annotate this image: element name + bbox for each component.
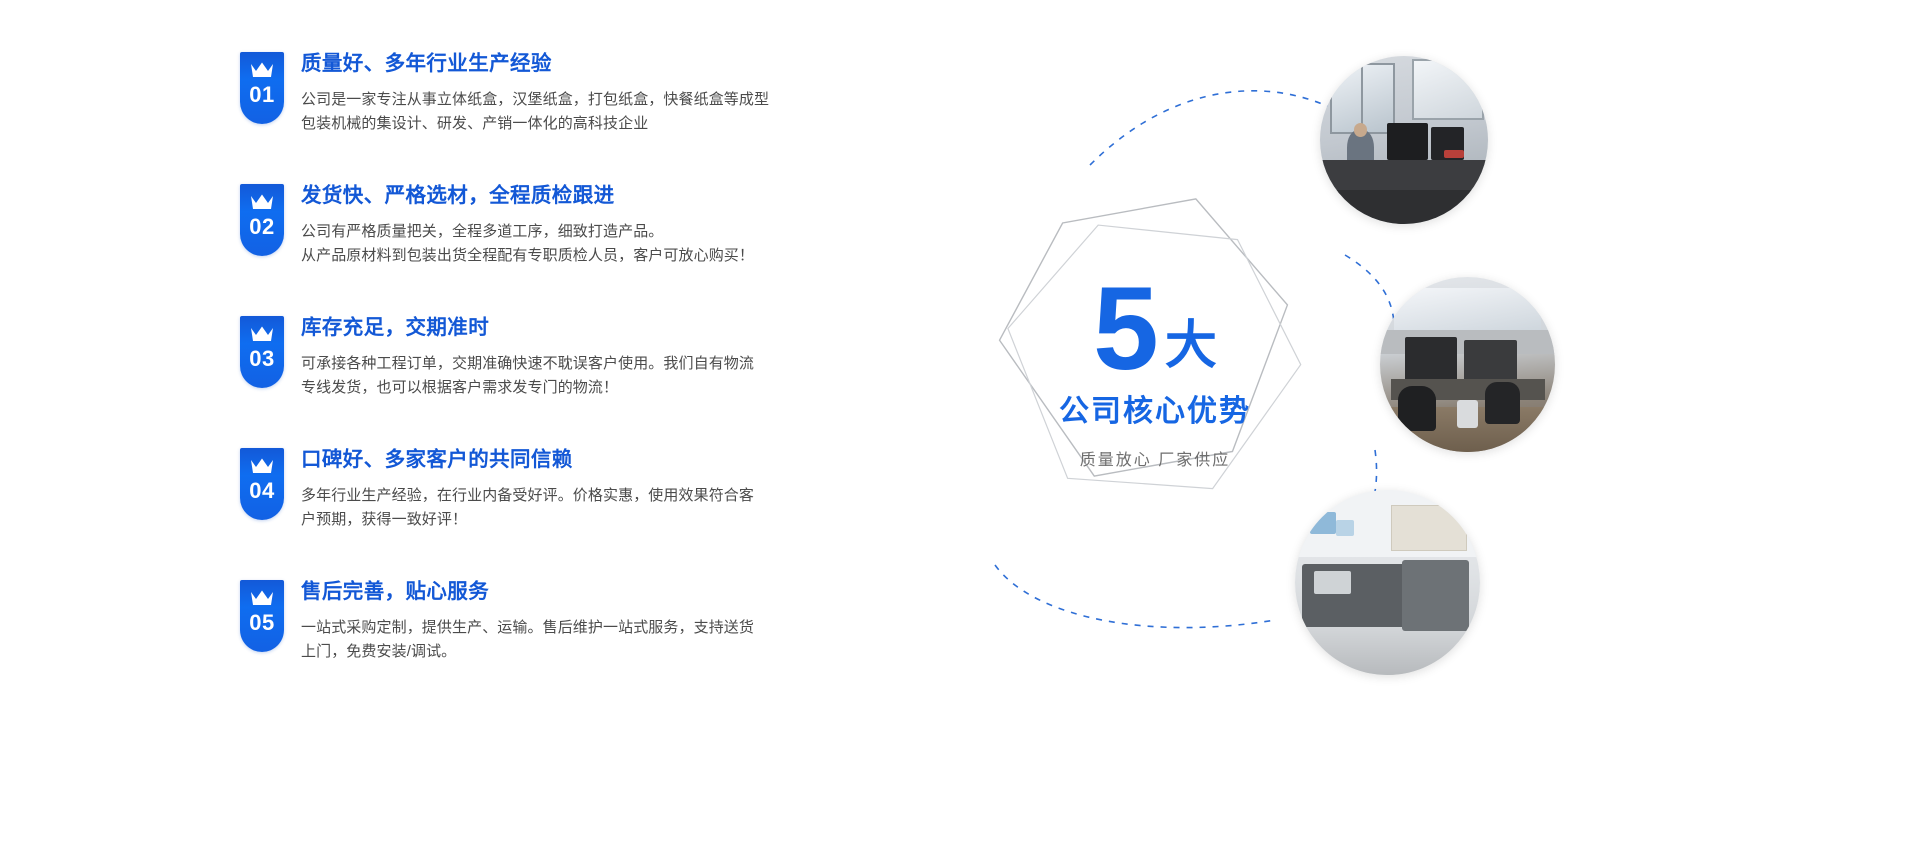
rank-badge-03: 03 [240, 316, 284, 388]
feature-description: 一站式采购定制，提供生产、运输。售后维护一站式服务，支持送货 上门，免费安装/调… [301, 616, 754, 666]
feature-text: 质量好、多年行业生产经验 公司是一家专注从事立体纸盒，汉堡纸盒，打包纸盒，快餐纸… [301, 52, 769, 137]
rank-badge-05: 05 [240, 580, 284, 652]
feature-title: 口碑好、多家客户的共同信赖 [301, 449, 754, 472]
photo-content [1295, 490, 1480, 675]
rank-number: 02 [240, 214, 284, 240]
feature-description-line: 一站式采购定制，提供生产、运输。售后维护一站式服务，支持送货 [301, 616, 754, 641]
feature-description-line: 从产品原材料到包装出货全程配有专职质检人员，客户可放心购买！ [301, 244, 754, 269]
feature-description: 多年行业生产经验，在行业内备受好评。价格实惠，使用效果符合客 户预期，获得一致好… [301, 484, 754, 534]
crown-icon [240, 590, 284, 606]
crown-icon [240, 194, 284, 210]
feature-title: 售后完善，贴心服务 [301, 581, 754, 604]
feature-description-line: 专线发货，也可以根据客户需求发专门的物流！ [301, 376, 754, 401]
center-headline-block: 5 大 公司核心优势 质量放心 厂家供应 [975, 275, 1335, 470]
feature-item-05[interactable]: 05 售后完善，贴心服务 一站式采购定制，提供生产、运输。售后维护一站式服务，支… [240, 580, 980, 665]
advantage-graphic: 5 大 公司核心优势 质量放心 厂家供应 [975, 20, 1405, 820]
feature-description: 公司是一家专注从事立体纸盒，汉堡纸盒，打包纸盒，快餐纸盒等成型 包装机械的集设计… [301, 88, 769, 138]
big-number-row: 5 大 [975, 275, 1335, 384]
rank-number: 05 [240, 610, 284, 636]
crown-icon [240, 458, 284, 474]
advantages-banner: 01 质量好、多年行业生产经验 公司是一家专注从事立体纸盒，汉堡纸盒，打包纸盒，… [0, 0, 1920, 847]
big-number: 5 [1093, 275, 1157, 384]
feature-list: 01 质量好、多年行业生产经验 公司是一家专注从事立体纸盒，汉堡纸盒，打包纸盒，… [240, 52, 980, 665]
feature-description-line: 公司有严格质量把关，全程多道工序，细致打造产品。 [301, 220, 754, 245]
feature-description-line: 户预期，获得一致好评！ [301, 508, 754, 533]
rank-number: 04 [240, 478, 284, 504]
feature-description-line: 上门，免费安装/调试。 [301, 640, 754, 665]
slogan-text: 质量放心 厂家供应 [975, 446, 1335, 470]
feature-description-line: 可承接各种工程订单，交期准确快速不耽误客户使用。我们自有物流 [301, 352, 754, 377]
photo-content [1380, 277, 1555, 452]
feature-item-02[interactable]: 02 发货快、严格选材，全程质检跟进 公司有严格质量把关，全程多道工序，细致打造… [240, 184, 980, 269]
big-unit: 大 [1165, 320, 1217, 372]
rank-badge-02: 02 [240, 184, 284, 256]
feature-text: 售后完善，贴心服务 一站式采购定制，提供生产、运输。售后维护一站式服务，支持送货… [301, 580, 754, 665]
rank-badge-04: 04 [240, 448, 284, 520]
feature-description: 可承接各种工程订单，交期准确快速不耽误客户使用。我们自有物流 专线发货，也可以根… [301, 352, 754, 402]
feature-text: 库存充足，交期准时 可承接各种工程订单，交期准确快速不耽误客户使用。我们自有物流… [301, 316, 754, 401]
rank-number: 01 [240, 82, 284, 108]
feature-item-04[interactable]: 04 口碑好、多家客户的共同信赖 多年行业生产经验，在行业内备受好评。价格实惠，… [240, 448, 980, 533]
feature-title: 质量好、多年行业生产经验 [301, 53, 769, 76]
photo-content [1320, 56, 1488, 224]
feature-description-line: 公司是一家专注从事立体纸盒，汉堡纸盒，打包纸盒，快餐纸盒等成型 [301, 88, 769, 113]
headline-text: 公司核心优势 [975, 386, 1335, 430]
feature-description-line: 包装机械的集设计、研发、产销一体化的高科技企业 [301, 112, 769, 137]
photo-office-workstation[interactable] [1320, 56, 1488, 224]
feature-item-01[interactable]: 01 质量好、多年行业生产经验 公司是一家专注从事立体纸盒，汉堡纸盒，打包纸盒，… [240, 52, 980, 137]
crown-icon [240, 326, 284, 342]
crown-icon [240, 62, 284, 78]
rank-number: 03 [240, 346, 284, 372]
photo-office-room[interactable] [1380, 277, 1555, 452]
feature-title: 发货快、严格选材，全程质检跟进 [301, 185, 754, 208]
feature-description: 公司有严格质量把关，全程多道工序，细致打造产品。 从产品原材料到包装出货全程配有… [301, 220, 754, 270]
feature-title: 库存充足，交期准时 [301, 317, 754, 340]
photo-packaging-machine[interactable] [1295, 490, 1480, 675]
feature-description-line: 多年行业生产经验，在行业内备受好评。价格实惠，使用效果符合客 [301, 484, 754, 509]
feature-text: 口碑好、多家客户的共同信赖 多年行业生产经验，在行业内备受好评。价格实惠，使用效… [301, 448, 754, 533]
feature-text: 发货快、严格选材，全程质检跟进 公司有严格质量把关，全程多道工序，细致打造产品。… [301, 184, 754, 269]
rank-badge-01: 01 [240, 52, 284, 124]
feature-item-03[interactable]: 03 库存充足，交期准时 可承接各种工程订单，交期准确快速不耽误客户使用。我们自… [240, 316, 980, 401]
